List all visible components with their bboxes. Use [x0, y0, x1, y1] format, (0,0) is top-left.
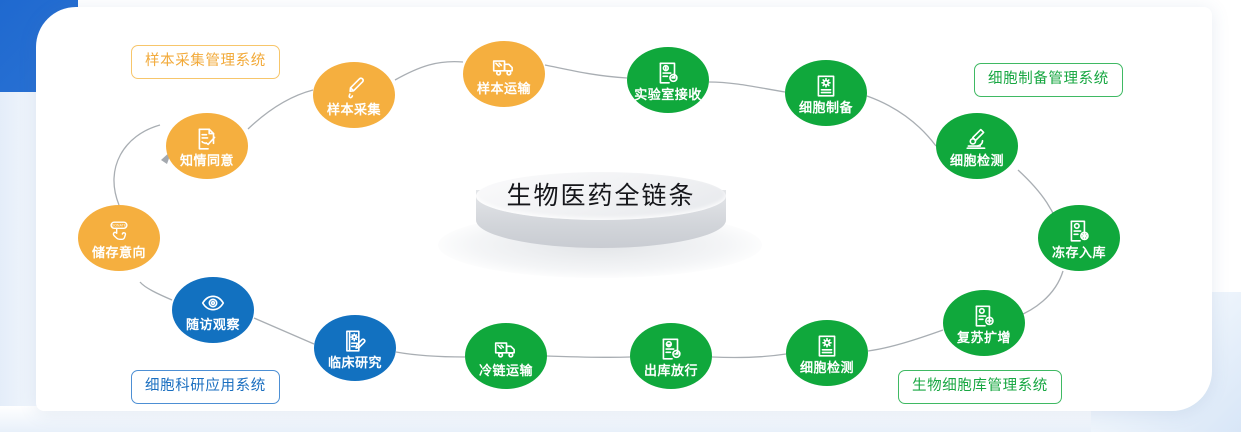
flow-node-label: 复苏扩增 — [957, 330, 1011, 345]
clipboard-pen-icon — [342, 328, 368, 355]
eye-icon — [200, 290, 226, 317]
flow-node-clinical-research[interactable]: 临床研究 — [314, 315, 396, 381]
truck-icon — [493, 336, 519, 363]
flow-node-cell-preparation[interactable]: 细胞制备 — [785, 60, 867, 126]
flow-node-label: 冷链运输 — [479, 363, 533, 378]
system-label-cell-preparation-system[interactable]: 细胞制备管理系统 — [974, 63, 1123, 97]
flow-node-label: 临床研究 — [328, 355, 382, 370]
flow-node-sample-transport[interactable]: 样本运输 — [463, 41, 545, 107]
center-title: 生物医药全链条 — [476, 174, 726, 218]
flow-node-label: 细胞检测 — [950, 153, 1004, 168]
system-label-bio-cellbank-system[interactable]: 生物细胞库管理系统 — [898, 370, 1062, 404]
flow-node-informed-consent[interactable]: 知情同意 — [166, 113, 248, 179]
flow-node-storage-intent[interactable]: DONATE 储存意向 — [78, 205, 160, 271]
flow-node-label: 细胞制备 — [799, 100, 853, 115]
flow-node-cell-testing-top[interactable]: 细胞检测 — [936, 113, 1018, 179]
cell-document-icon — [814, 333, 840, 360]
system-label-cell-research-system[interactable]: 细胞科研应用系统 — [131, 370, 280, 404]
flow-node-label: 随访观察 — [186, 317, 240, 332]
flow-node-label: 样本运输 — [477, 81, 531, 96]
flow-node-label: 知情同意 — [180, 153, 234, 168]
flow-node-sample-collection[interactable]: 样本采集 — [313, 62, 395, 128]
flow-node-recovery-expansion[interactable]: 复苏扩增 — [943, 290, 1025, 356]
flow-node-cryo-storage[interactable]: 冻存入库 — [1038, 205, 1120, 271]
dropper-icon — [341, 75, 367, 102]
center-pedestal: 生物医药全链条 — [430, 172, 770, 282]
flow-node-lab-reception[interactable]: 实验室接收 — [627, 47, 709, 113]
system-label-sample-collection-system[interactable]: 样本采集管理系统 — [131, 45, 280, 79]
cell-document-icon — [813, 73, 839, 100]
flow-node-release-outbound[interactable]: 出库放行 — [630, 323, 712, 389]
flow-node-label: 冻存入库 — [1052, 245, 1106, 260]
document-out-icon — [658, 336, 684, 363]
flow-node-follow-up[interactable]: 随访观察 — [172, 277, 254, 343]
svg-text:DONATE: DONATE — [112, 224, 127, 228]
flow-node-label: 储存意向 — [92, 245, 146, 260]
flow-node-cell-testing-bottom[interactable]: 细胞检测 — [786, 320, 868, 386]
truck-icon — [491, 54, 517, 81]
flow-node-label: 细胞检测 — [800, 360, 854, 375]
donate-hand-icon: DONATE — [106, 218, 132, 245]
flow-node-label: 出库放行 — [644, 363, 698, 378]
flow-node-label: 样本采集 — [327, 102, 381, 117]
flow-node-cold-chain[interactable]: 冷链运输 — [465, 323, 547, 389]
flow-node-label: 实验室接收 — [634, 87, 702, 102]
document-freeze-icon — [1066, 218, 1092, 245]
infographic-canvas: 生物医药全链条 知情同意 样本采集 样本运输 实验室接收 细胞制备 — [0, 0, 1241, 432]
document-expand-icon — [971, 303, 997, 330]
microscope-icon — [964, 126, 990, 153]
document-check-icon — [194, 126, 220, 153]
document-receive-icon — [655, 60, 681, 87]
